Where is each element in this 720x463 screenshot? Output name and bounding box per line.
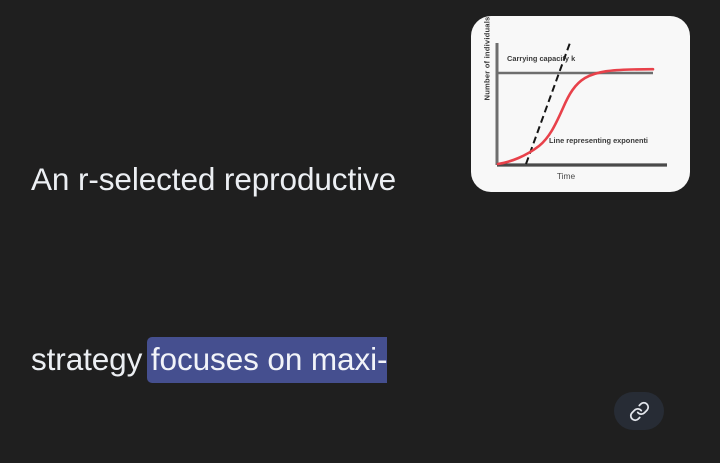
text-run-plain: An r-selected reproductive — [31, 161, 396, 197]
chart-thumbnail-card[interactable]: Number of individuals Time Carrying capa… — [471, 16, 690, 192]
text-run-plain: strategy — [31, 341, 151, 377]
carrying-capacity-label: Carrying capacity k — [507, 54, 575, 63]
exponential-line-label: Line representing exponenti — [549, 136, 648, 145]
chart-x-axis-label: Time — [471, 171, 661, 181]
citation-link-button[interactable] — [614, 392, 664, 430]
screenshot-root: An r-selected reproductive strategy focu… — [0, 0, 720, 463]
logistic-growth-curve — [498, 69, 653, 164]
chart-y-axis-label: Number of individuals — [483, 16, 492, 113]
chart-svg — [471, 16, 690, 192]
link-chain-icon — [629, 401, 650, 422]
highlight-run[interactable]: focuses on maxi- — [147, 337, 388, 383]
text-line-2: strategy focuses on maxi- — [31, 337, 691, 382]
logistic-growth-chart: Number of individuals Time Carrying capa… — [471, 16, 690, 192]
